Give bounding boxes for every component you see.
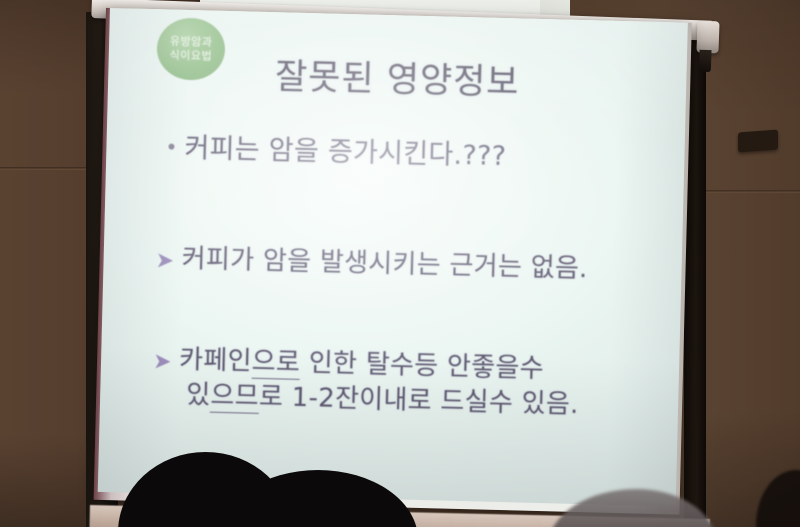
slide-bullet-2-text: 커피가 암을 발생시키는 근거는 없음. — [181, 242, 588, 287]
bullet-dot-icon — [158, 131, 184, 150]
slide-title: 잘못된 영양정보 — [108, 52, 687, 109]
slide-bullet-1: 커피는 암을 증가시킨다.??? — [158, 131, 679, 178]
segment-underlined: 으로 — [251, 347, 300, 380]
bullet-arrow-icon: ➤ — [155, 241, 182, 277]
slide-bullet-2: ➤ 커피가 암을 발생시키는 근거는 없음. — [155, 241, 676, 289]
segment-underlined: 으므 — [210, 381, 259, 414]
segment-plain: 있 — [186, 380, 211, 411]
wall-vent — [738, 130, 778, 153]
slide-bullet-1-text: 커피는 암을 증가시킨다.??? — [184, 132, 507, 174]
bullet-dot-shape — [168, 144, 174, 150]
segment-plain: 카페인 — [179, 345, 252, 377]
slide-bullet-3: ➤ 카페인으로 인한 탈수등 안좋을수 있으므로 1-2잔이내로 드실수 있음. — [152, 342, 674, 425]
slide-bullet-3-text: 카페인으로 인한 탈수등 안좋을수 있으므로 1-2잔이내로 드실수 있음. — [178, 343, 580, 423]
segment-plain: 인한 탈수등 안좋을수 — [300, 348, 544, 384]
bullet-arrow-icon: ➤ — [153, 342, 180, 378]
projection-screen-surface: 유방암과 식이요법 잘못된 영양정보 커피는 암을 증가시킨다.??? — [98, 8, 688, 506]
lecture-room-photo: 유방암과 식이요법 잘못된 영양정보 커피는 암을 증가시킨다.??? — [0, 0, 800, 527]
projection-screen-roller-bracket — [696, 21, 719, 54]
segment-plain: 로 1-2잔이내로 드실수 있음. — [259, 382, 579, 420]
presentation-slide: 유방암과 식이요법 잘못된 영양정보 커피는 암을 증가시킨다.??? — [98, 8, 688, 506]
slide-logo-line-1: 유방암과 — [170, 35, 213, 50]
slide-body: 커피는 암을 증가시킨다.??? ➤ 커피가 암을 발생시키는 근거는 없음. … — [152, 131, 679, 425]
projection-screen: 유방암과 식이요법 잘못된 영양정보 커피는 암을 증가시킨다.??? — [97, 8, 687, 522]
